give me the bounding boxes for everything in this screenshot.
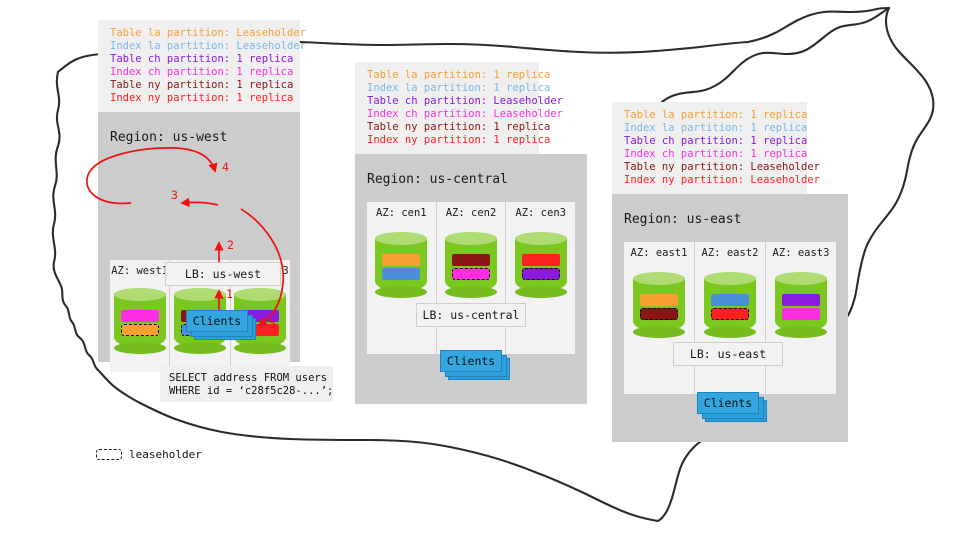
cylinder-top: [174, 288, 226, 301]
node-cylinder-cen3[interactable]: [515, 232, 567, 298]
az-label: AZ: west1: [110, 265, 169, 277]
legend-line: Index la partition: 1 replica: [367, 82, 529, 95]
legend-line: Table ny partition: Leaseholder: [624, 161, 797, 174]
legend-line: Index ch partition: 1 replica: [110, 66, 290, 79]
cylinder-top: [633, 272, 685, 285]
node-cylinder-cen2[interactable]: [445, 232, 497, 298]
az-cell-east3[interactable]: AZ: east3: [766, 242, 836, 394]
sql-query-box: SELECT address FROM users WHERE id = ‘c2…: [160, 366, 333, 402]
node-cylinder-cen1[interactable]: [375, 232, 427, 298]
az-cell-east2[interactable]: AZ: east2: [695, 242, 766, 394]
step-number-4: 4: [222, 160, 229, 174]
clients-label[interactable]: Clients: [186, 310, 248, 332]
az-cell-west1[interactable]: AZ: west1: [110, 260, 170, 372]
az-label: AZ: cen1: [367, 207, 436, 219]
legend-line: Table la partition: 1 replica: [367, 69, 529, 82]
az-label: AZ: east2: [695, 247, 765, 259]
leaseholder-swatch-icon: [96, 449, 122, 460]
legend-line: Index ny partition: 1 replica: [110, 92, 290, 105]
node-cylinder-east1[interactable]: [633, 272, 685, 338]
az-cell-cen2[interactable]: AZ: cen2: [437, 202, 507, 354]
legend-line: Index ch partition: Leaseholder: [367, 108, 529, 121]
step-number-2: 2: [227, 238, 234, 252]
node-cylinder-east2[interactable]: [704, 272, 756, 338]
az-label: AZ: east1: [624, 247, 694, 259]
cylinder-bottom: [515, 286, 567, 298]
cylinder-bottom: [704, 326, 756, 338]
clients-label[interactable]: Clients: [697, 392, 759, 414]
region-title: Region: us-central: [367, 172, 508, 187]
cylinder-bottom: [234, 342, 286, 354]
legend-panel-us-central: Table la partition: 1 replica Index la p…: [355, 62, 539, 154]
range-leaseholder: [522, 268, 560, 280]
cylinder-bottom: [114, 342, 166, 354]
legend-line: Index ny partition: 1 replica: [367, 134, 529, 147]
az-cell-east1[interactable]: AZ: east1: [624, 242, 695, 394]
legend-line: Index la partition: 1 replica: [624, 122, 797, 135]
az-strip-us-central: AZ: cen1 AZ: cen2: [367, 202, 575, 354]
az-strip-us-east: AZ: east1 AZ: east2: [624, 242, 836, 394]
legend-line: Table ch partition: 1 replica: [110, 53, 290, 66]
sql-line-1: SELECT address FROM users: [169, 372, 324, 385]
leaseholder-key: leaseholder: [96, 448, 202, 461]
clients-label[interactable]: Clients: [440, 350, 502, 372]
cylinder-top: [445, 232, 497, 245]
legend-line: Index ny partition: Leaseholder: [624, 174, 797, 187]
az-label: AZ: east3: [766, 247, 836, 259]
region-title: Region: us-east: [624, 212, 741, 227]
sql-line-2: WHERE id = ‘c28f5c28-...’;: [169, 385, 324, 398]
range-replica: [121, 310, 159, 322]
range-replica: [452, 254, 490, 266]
range-leaseholder: [711, 308, 749, 320]
legend-line: Index la partition: Leaseholder: [110, 40, 290, 53]
cylinder-top: [375, 232, 427, 245]
range-leaseholder: [452, 268, 490, 280]
range-replica: [640, 294, 678, 306]
clients-us-west[interactable]: Clients: [186, 310, 256, 342]
region-title: Region: us-west: [110, 130, 227, 145]
range-replica: [382, 268, 420, 280]
legend-panel-us-west: Table la partition: Leaseholder Index la…: [98, 20, 300, 112]
step-number-5: 5: [269, 317, 276, 331]
cylinder-bottom: [445, 286, 497, 298]
lb-box-us-central[interactable]: LB: us-central: [416, 303, 526, 327]
cylinder-bottom: [633, 326, 685, 338]
range-replica: [382, 254, 420, 266]
cylinder-bottom: [775, 326, 827, 338]
legend-panel-us-east: Table la partition: 1 replica Index la p…: [612, 102, 807, 194]
az-cell-cen3[interactable]: AZ: cen3: [506, 202, 575, 354]
step-number-3: 3: [171, 188, 178, 202]
range-replica: [782, 308, 820, 320]
range-replica: [711, 294, 749, 306]
cylinder-top: [234, 288, 286, 301]
legend-line: Table ch partition: 1 replica: [624, 135, 797, 148]
node-cylinder-west1[interactable]: [114, 288, 166, 354]
cylinder-top: [704, 272, 756, 285]
cylinder-top: [515, 232, 567, 245]
step-number-1: 1: [226, 287, 233, 301]
cylinder-top: [114, 288, 166, 301]
lb-box-us-west[interactable]: LB: us-west: [165, 262, 281, 286]
lb-box-us-east[interactable]: LB: us-east: [673, 342, 783, 366]
cylinder-bottom: [174, 342, 226, 354]
legend-line: Index ch partition: 1 replica: [624, 148, 797, 161]
legend-line: Table ch partition: Leaseholder: [367, 95, 529, 108]
clients-us-central[interactable]: Clients: [440, 350, 510, 382]
range-leaseholder: [121, 324, 159, 336]
cylinder-top: [775, 272, 827, 285]
legend-line: Table ny partition: 1 replica: [367, 121, 529, 134]
clients-us-east[interactable]: Clients: [697, 392, 767, 424]
az-cell-cen1[interactable]: AZ: cen1: [367, 202, 437, 354]
legend-line: Table la partition: 1 replica: [624, 109, 797, 122]
az-label: AZ: cen2: [437, 207, 506, 219]
legend-line: Table la partition: Leaseholder: [110, 27, 290, 40]
node-cylinder-east3[interactable]: [775, 272, 827, 338]
legend-line: Table ny partition: 1 replica: [110, 79, 290, 92]
range-replica: [522, 254, 560, 266]
range-replica: [782, 294, 820, 306]
diagram-canvas: Table la partition: Leaseholder Index la…: [0, 0, 960, 540]
cylinder-bottom: [375, 286, 427, 298]
range-leaseholder: [640, 308, 678, 320]
leaseholder-key-label: leaseholder: [129, 448, 202, 461]
az-label: AZ: cen3: [506, 207, 575, 219]
